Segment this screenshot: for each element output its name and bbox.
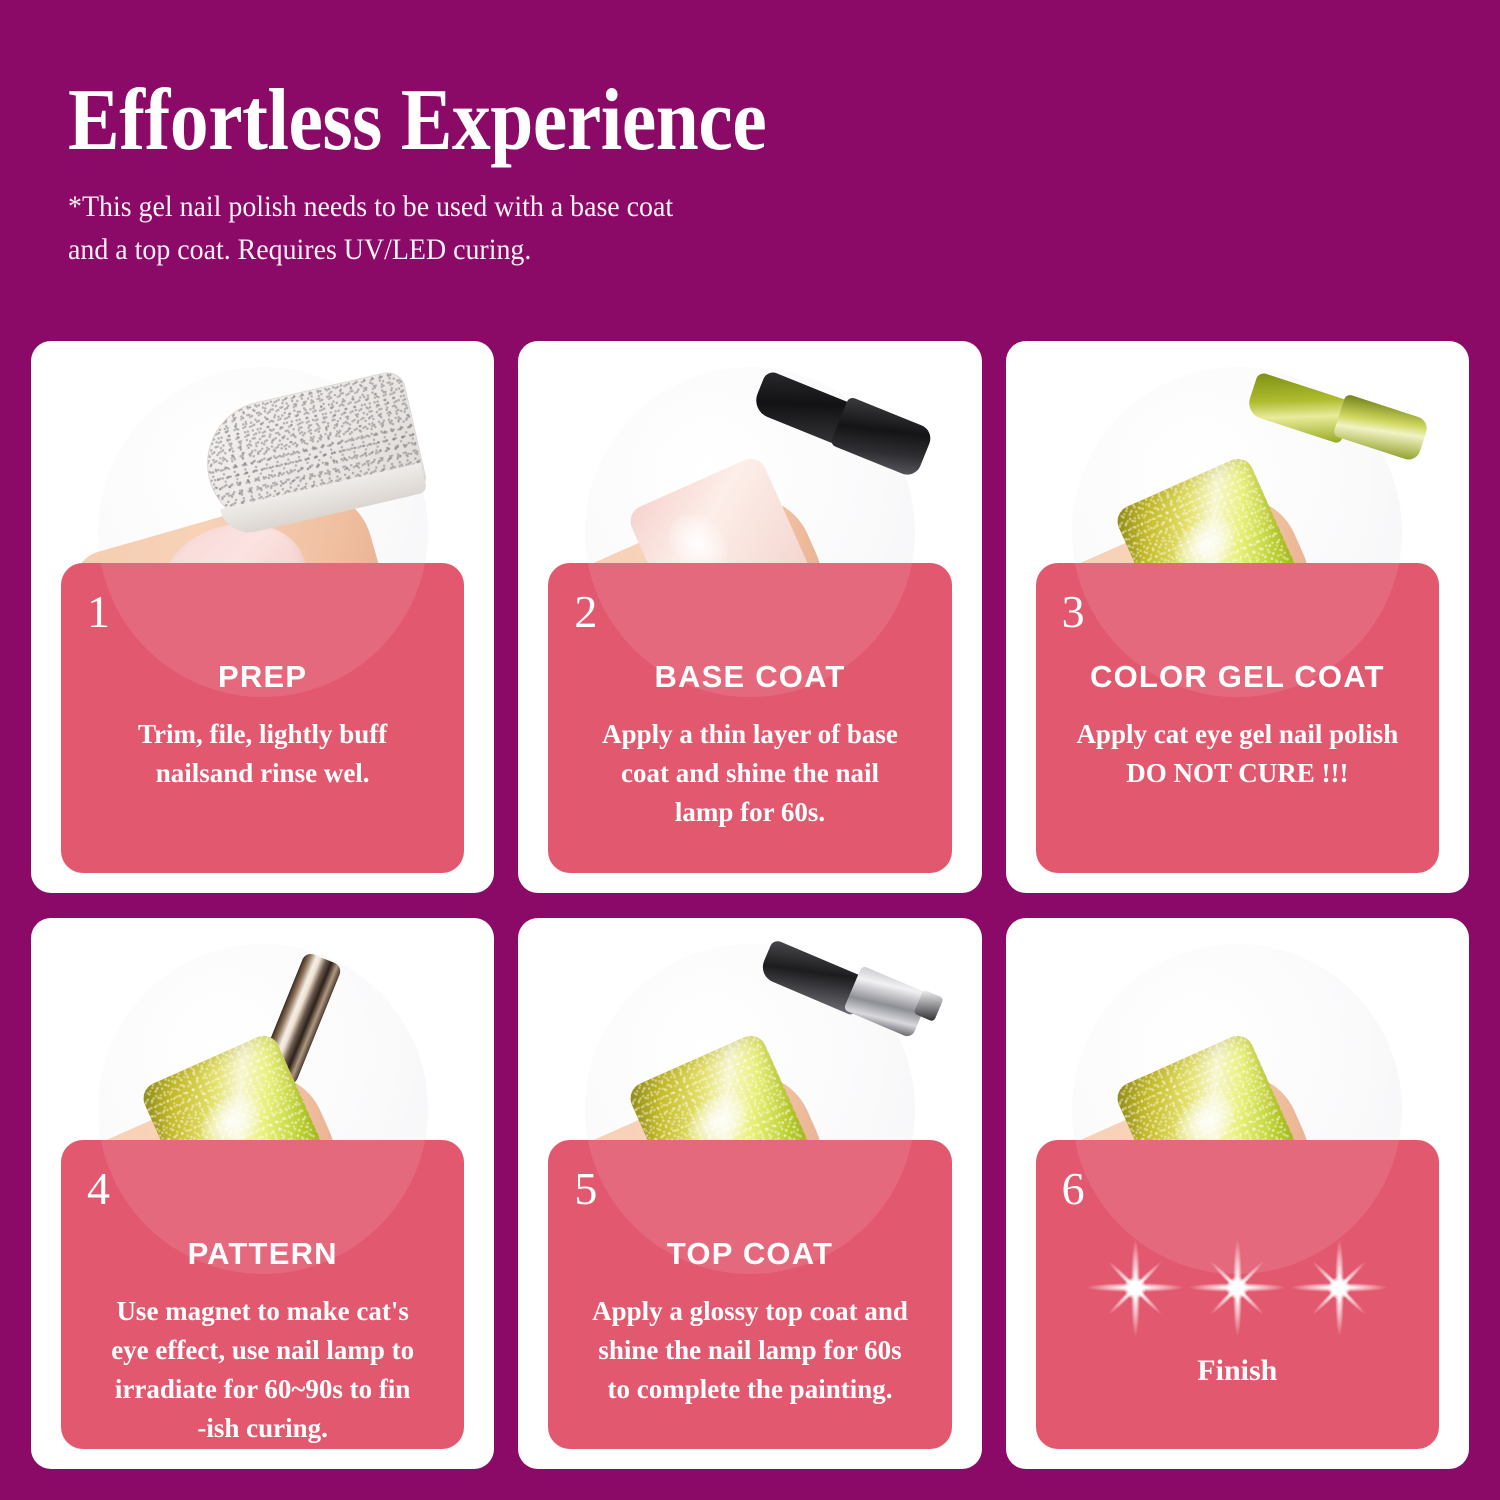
step-number: 3 [1062, 589, 1085, 635]
step-card-5[interactable]: 5 TOP COAT Apply a glossy top coat and s… [518, 918, 981, 1470]
step-card-6[interactable]: 6 Finish [1006, 918, 1469, 1470]
sparkles-group [1036, 1228, 1439, 1348]
silver-brush-icon [754, 927, 942, 1054]
steps-grid: 1 PREP Trim, file, lightly buff nailsand… [31, 341, 1469, 1469]
step-number: 6 [1062, 1166, 1085, 1212]
step-card-2[interactable]: 2 BASE COAT Apply a thin layer of base c… [518, 341, 981, 893]
page-subtitle: *This gel nail polish needs to be used w… [68, 186, 1351, 271]
step-4-panel: 4 PATTERN Use magnet to make cat's eye e… [61, 1140, 464, 1450]
step-number: 2 [574, 589, 597, 635]
step-5-panel: 5 TOP COAT Apply a glossy top coat and s… [548, 1140, 951, 1450]
step-description: Use magnet to make cat's eye effect, use… [79, 1292, 446, 1449]
page-header: Effortless Experience *This gel nail pol… [68, 78, 1448, 271]
step-description: Apply a thin layer of base coat and shin… [566, 715, 933, 832]
step-card-4[interactable]: 4 PATTERN Use magnet to make cat's eye e… [31, 918, 494, 1470]
step-heading: BASE COAT [566, 659, 933, 695]
step-number: 4 [87, 1166, 110, 1212]
step-6-panel: 6 Finish [1036, 1140, 1439, 1450]
nail-buffer-icon [194, 369, 429, 539]
step-heading: PATTERN [79, 1236, 446, 1272]
step-description: Apply cat eye gel nail polish DO NOT CUR… [1054, 715, 1421, 793]
step-description: Apply a glossy top coat and shine the na… [566, 1292, 933, 1409]
step-card-3[interactable]: 3 COLOR GEL COAT Apply cat eye gel nail … [1006, 341, 1469, 893]
sparkle-icon [1087, 1240, 1183, 1336]
step-heading: PREP [79, 659, 446, 695]
sparkle-icon [1189, 1240, 1285, 1336]
green-gel-brush-icon [1244, 364, 1426, 472]
step-3-panel: 3 COLOR GEL COAT Apply cat eye gel nail … [1036, 563, 1439, 873]
step-2-panel: 2 BASE COAT Apply a thin layer of base c… [548, 563, 951, 873]
step-description: Trim, file, lightly buff nailsand rinse … [79, 715, 446, 793]
step-heading: TOP COAT [566, 1236, 933, 1272]
step-card-1[interactable]: 1 PREP Trim, file, lightly buff nailsand… [31, 341, 494, 893]
step-1-panel: 1 PREP Trim, file, lightly buff nailsand… [61, 563, 464, 873]
step-number: 1 [87, 589, 110, 635]
sparkle-icon [1291, 1240, 1387, 1336]
step-number: 5 [574, 1166, 597, 1212]
step-heading: COLOR GEL COAT [1054, 659, 1421, 695]
finish-label: Finish [1036, 1354, 1439, 1388]
black-brush-icon [749, 364, 924, 478]
page-title: Effortless Experience [68, 78, 1282, 164]
